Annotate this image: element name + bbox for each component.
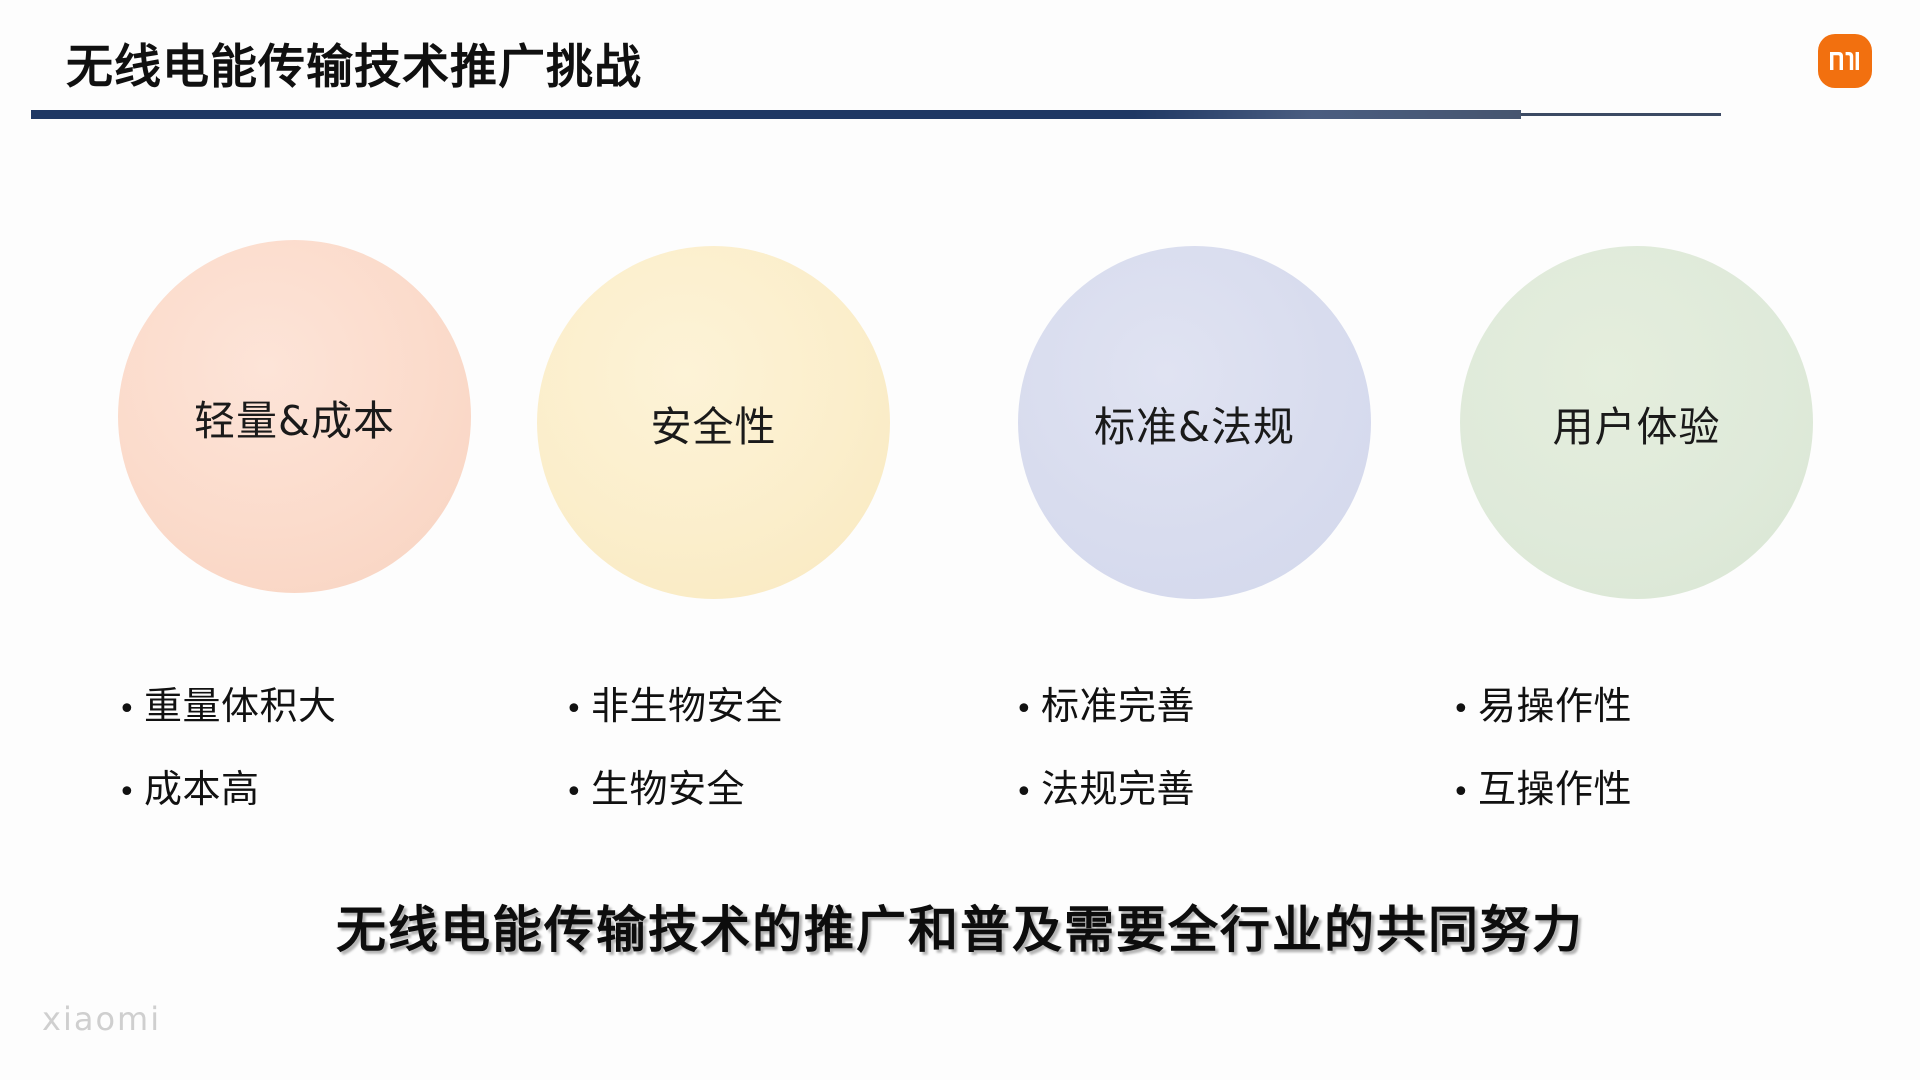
title-underline-rule-extension [1521,113,1721,116]
list-item-label: 易操作性 [1478,675,1632,730]
slide: 无线电能传输技术推广挑战 轻量&成本 安全性 标准&法规 用户体验 • 重量体积… [0,0,1920,1080]
list-item: • 生物安全 [565,758,784,813]
list-item: • 易操作性 [1452,675,1632,730]
circle-label-standards-regulations: 标准&法规 [1094,393,1295,453]
xiaomi-mi-logo-icon [1818,34,1872,88]
list-item: • 成本高 [118,758,337,813]
list-item: • 重量体积大 [118,675,337,730]
circle-label-user-experience: 用户体验 [1553,393,1721,453]
xiaomi-wordmark: xiaomi [42,1000,161,1038]
title-underline-rule [31,110,1521,119]
circle-standards-regulations: 标准&法规 [1018,246,1371,599]
list-item-label: 成本高 [144,758,260,813]
list-item: • 非生物安全 [565,675,784,730]
circle-label-safety: 安全性 [651,393,777,453]
list-item-label: 法规完善 [1041,758,1195,813]
bullet-dot-icon: • [1015,778,1041,808]
bullet-dot-icon: • [565,695,591,725]
list-item-label: 互操作性 [1478,758,1632,813]
list-item: • 标准完善 [1015,675,1195,730]
list-item-label: 重量体积大 [144,675,337,730]
circle-user-experience: 用户体验 [1460,246,1813,599]
bullet-column-standards-regulations: • 标准完善 • 法规完善 [1015,675,1195,841]
bullet-dot-icon: • [565,778,591,808]
bullet-dot-icon: • [118,695,144,725]
circle-label-weight-cost: 轻量&成本 [194,387,395,447]
circle-safety: 安全性 [537,246,890,599]
bullet-column-safety: • 非生物安全 • 生物安全 [565,675,784,841]
bullet-column-weight-cost: • 重量体积大 • 成本高 [118,675,337,841]
list-item-label: 非生物安全 [591,675,784,730]
list-item: • 互操作性 [1452,758,1632,813]
bullet-dot-icon: • [1015,695,1041,725]
bullet-dot-icon: • [118,778,144,808]
closing-statement: 无线电能传输技术的推广和普及需要全行业的共同努力 [0,890,1920,962]
list-item-label: 生物安全 [591,758,745,813]
list-item-label: 标准完善 [1041,675,1195,730]
bullet-dot-icon: • [1452,695,1478,725]
page-title: 无线电能传输技术推广挑战 [66,28,642,97]
list-item: • 法规完善 [1015,758,1195,813]
circle-weight-cost: 轻量&成本 [118,240,471,593]
bullet-dot-icon: • [1452,778,1478,808]
challenge-circles-row: 轻量&成本 安全性 标准&法规 用户体验 [0,230,1920,620]
bullet-column-user-experience: • 易操作性 • 互操作性 [1452,675,1632,841]
